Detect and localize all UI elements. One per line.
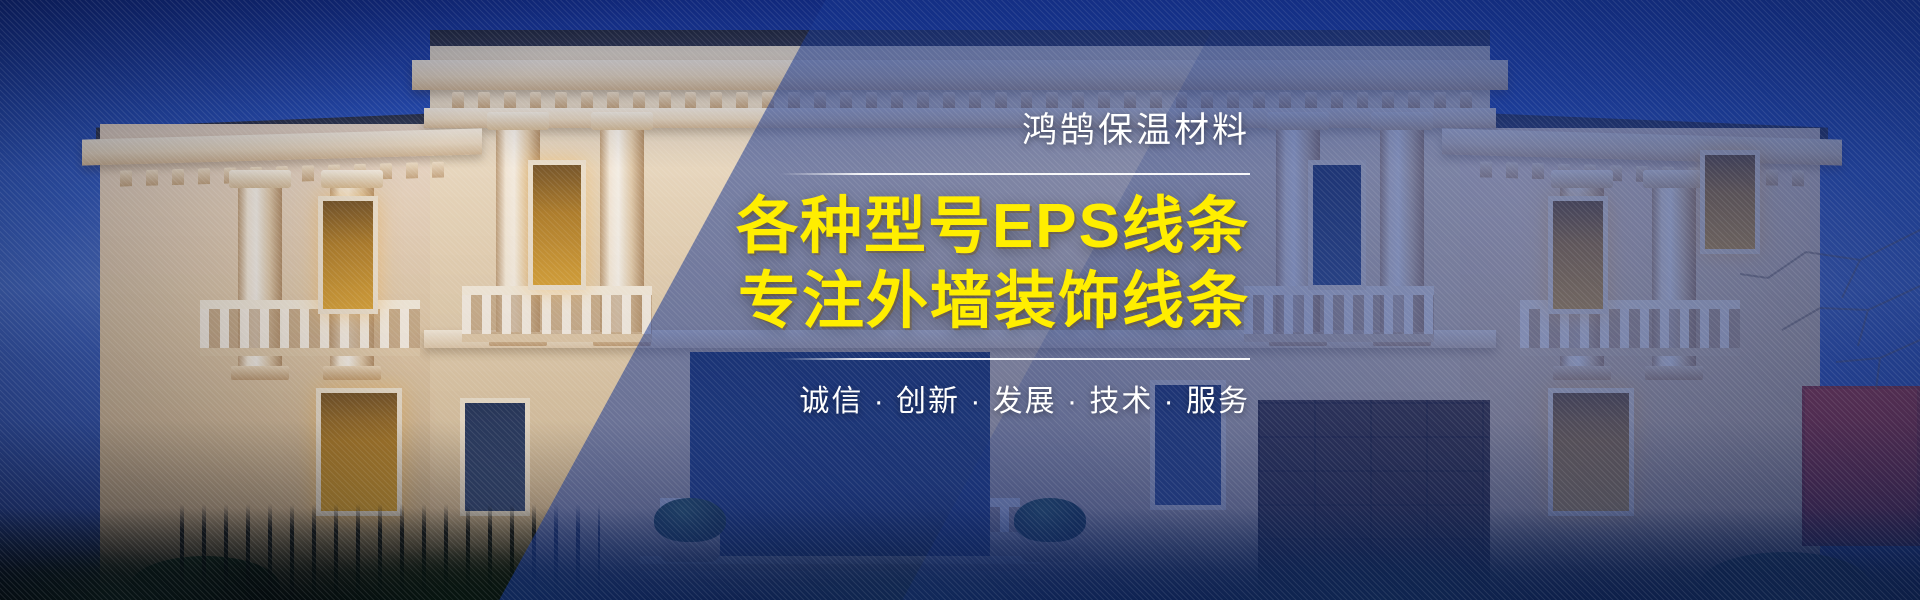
headline-line-1: 各种型号EPS线条: [690, 189, 1250, 265]
divider-bottom: [780, 358, 1250, 360]
hero-banner: 鸿鹄保温材料 各种型号EPS线条 专注外墙装饰线条 诚信 · 创新 · 发展 ·…: [0, 0, 1920, 600]
brand-name: 鸿鹄保温材料: [690, 112, 1250, 151]
divider-top: [780, 173, 1250, 175]
banner-copy: 鸿鹄保温材料 各种型号EPS线条 专注外墙装饰线条 诚信 · 创新 · 发展 ·…: [690, 112, 1250, 420]
headline-line-2: 专注外墙装饰线条: [690, 264, 1250, 340]
tagline: 诚信 · 创新 · 发展 · 技术 · 服务: [690, 376, 1250, 420]
